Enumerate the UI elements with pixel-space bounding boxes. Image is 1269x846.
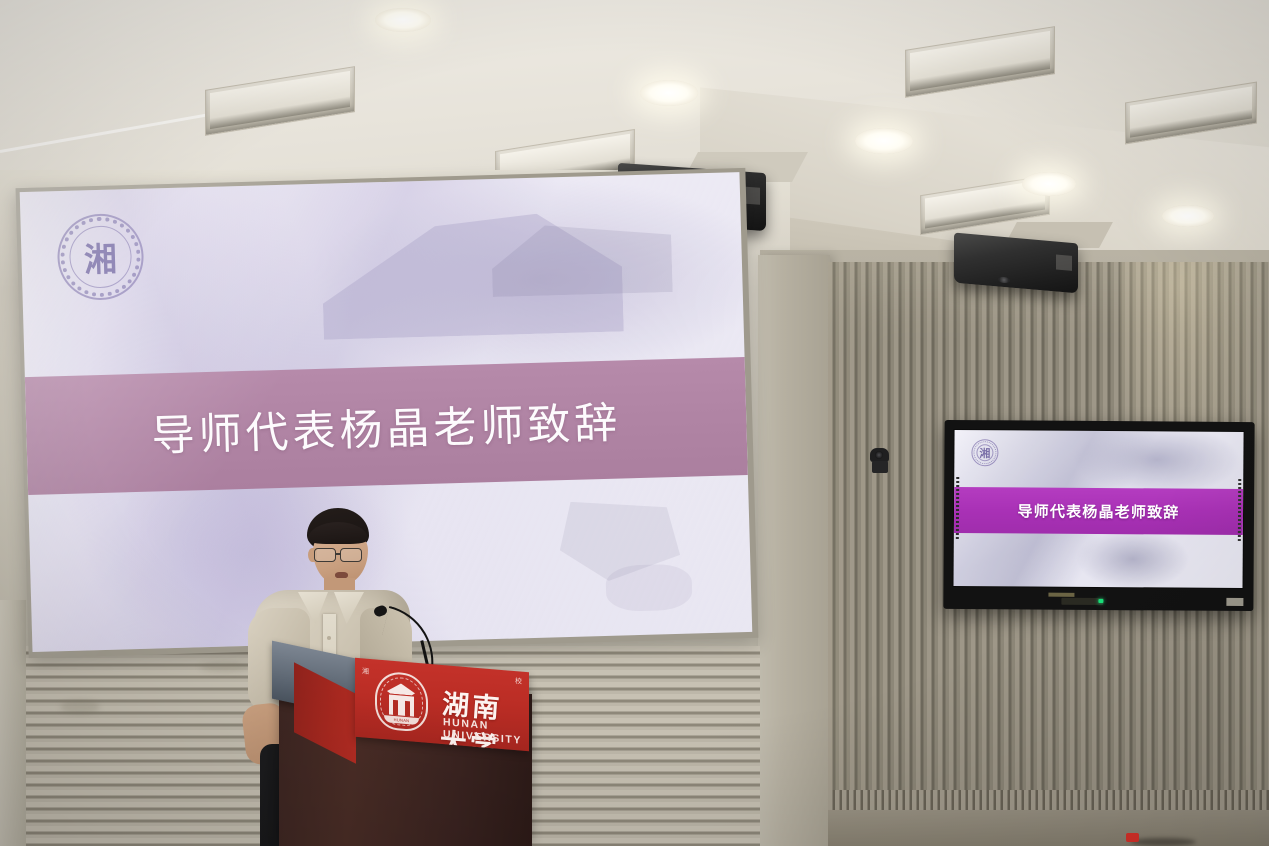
monitor-brand-logo bbox=[1049, 593, 1075, 597]
lecture-hall-photo: 湘 导师代表杨晶老师致辞 湘 导师代表杨晶老师致辞 bbox=[0, 0, 1269, 846]
monitor-touch-sensor-strip bbox=[1238, 479, 1241, 541]
floor-object-shadow bbox=[1130, 838, 1196, 846]
downlight-2 bbox=[640, 80, 698, 106]
monitor-slide: 湘 导师代表杨晶老师致辞 bbox=[954, 430, 1244, 588]
slide-photo-shape bbox=[605, 564, 692, 612]
glasses-icon bbox=[314, 548, 368, 563]
ptz-camera bbox=[869, 448, 891, 474]
floor bbox=[828, 810, 1269, 846]
university-seal-icon: 湘 bbox=[971, 439, 998, 466]
wall-lcd-monitor[interactable]: 湘 导师代表杨晶老师致辞 bbox=[943, 420, 1254, 611]
glasses-lens-left bbox=[314, 548, 336, 562]
crest-gate-door bbox=[405, 701, 410, 716]
monitor-slide-title: 导师代表杨晶老师致辞 bbox=[1017, 500, 1179, 522]
power-led-icon bbox=[1098, 599, 1103, 603]
slide-title-band: 导师代表杨晶老师致辞 bbox=[25, 357, 748, 495]
shirt-button bbox=[327, 636, 331, 640]
podium-mark-left: 湘 bbox=[362, 666, 369, 677]
seal-glyph: 湘 bbox=[57, 232, 144, 282]
podium-front-sign: HUNAN UNIVERSITY 湘 校 湖南大学 HUNAN UNIVERSI… bbox=[355, 658, 529, 752]
wall-column bbox=[758, 255, 830, 846]
pillar-edge bbox=[0, 600, 26, 846]
monitor-touch-sensor-strip bbox=[956, 477, 959, 539]
downlight-5 bbox=[1162, 205, 1214, 227]
camera-head bbox=[870, 448, 889, 462]
projector-lens bbox=[998, 276, 1010, 283]
podium-mark-right: 校 bbox=[515, 678, 522, 686]
monitor-side-label bbox=[1226, 598, 1243, 606]
monitor-title-band: 导师代表杨晶老师致辞 bbox=[954, 487, 1243, 535]
monitor-bezel: 湘 导师代表杨晶老师致辞 bbox=[952, 429, 1244, 589]
wall-smudge bbox=[60, 700, 100, 714]
projector-label bbox=[1056, 254, 1072, 270]
monitor-control-bar[interactable] bbox=[1061, 598, 1103, 605]
downlight-3 bbox=[855, 128, 913, 154]
hunan-university-crest-icon: HUNAN UNIVERSITY bbox=[375, 670, 428, 732]
red-floor-object bbox=[1126, 833, 1139, 842]
camera-lens-icon bbox=[875, 451, 883, 459]
seal-glyph: 湘 bbox=[971, 445, 998, 461]
slide-title: 导师代表杨晶老师致辞 bbox=[151, 388, 623, 463]
downlight-4 bbox=[1022, 172, 1076, 196]
university-seal-icon: 湘 bbox=[56, 213, 144, 301]
projector-label bbox=[744, 187, 760, 206]
glasses-lens-right bbox=[340, 548, 362, 562]
crest-gate bbox=[389, 695, 414, 717]
crest-gate-door bbox=[393, 700, 398, 715]
downlight-1 bbox=[375, 8, 431, 32]
camera-mount bbox=[872, 461, 888, 473]
